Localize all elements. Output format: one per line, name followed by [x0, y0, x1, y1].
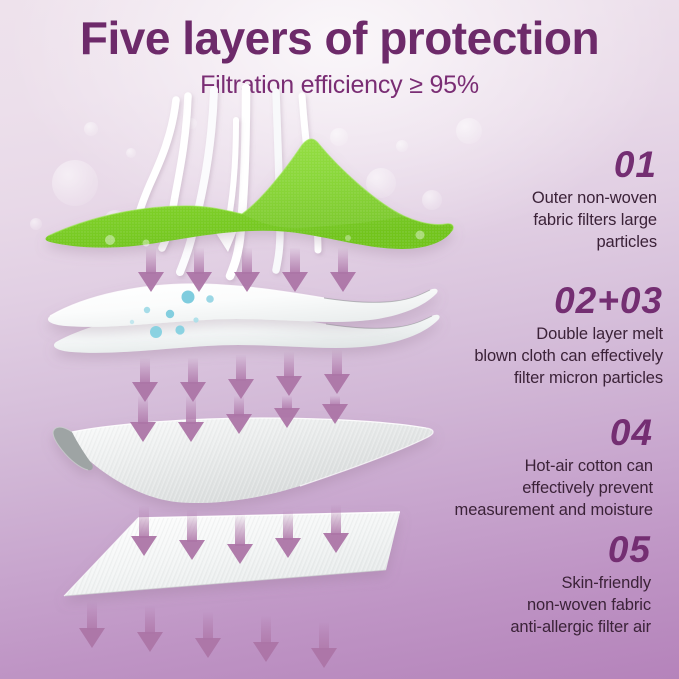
hot-air-cotton-layer	[53, 418, 433, 503]
cyan-particle-dot	[193, 317, 198, 322]
layer-desc-line: Double layer melt	[474, 324, 663, 346]
layer-desc-line: Hot-air cotton can	[455, 456, 653, 478]
skin-friendly-layer	[64, 512, 400, 596]
layer-info-02-03: 02+03 Double layer melt blown cloth can …	[474, 282, 663, 389]
layer-desc-line: anti-allergic filter air	[510, 617, 651, 639]
layer-description: Outer non-woven fabric filters large par…	[532, 188, 657, 253]
cyan-particle-dot	[130, 320, 134, 324]
outer-non-woven-layer	[46, 139, 454, 249]
cyan-particle-dot	[206, 295, 214, 303]
layer-desc-line: blown cloth can effectively	[474, 346, 663, 368]
cyan-particle-dot	[175, 325, 184, 334]
layer-desc-line: measurement and moisture	[455, 500, 653, 522]
cyan-particle-dot	[166, 310, 174, 318]
layer-desc-line: fabric filters large	[532, 210, 657, 232]
layer-description: Double layer melt blown cloth can effect…	[474, 324, 663, 389]
cyan-particle-dot	[150, 326, 162, 338]
layer-desc-line: Skin-friendly	[510, 573, 651, 595]
cyan-particle-dot	[144, 307, 150, 313]
layer-number: 01	[532, 146, 657, 183]
infographic-canvas: Five layers of protection Filtration eff…	[0, 0, 679, 679]
layer-info-04: 04 Hot-air cotton can effectively preven…	[455, 414, 653, 521]
layer-number: 02+03	[474, 282, 663, 319]
layer-desc-line: particles	[532, 232, 657, 254]
layer-desc-line: non-woven fabric	[510, 595, 651, 617]
layer-description: Hot-air cotton can effectively prevent m…	[455, 456, 653, 521]
layer-desc-line: effectively prevent	[455, 478, 653, 500]
layer-desc-line: Outer non-woven	[532, 188, 657, 210]
layer-info-01: 01 Outer non-woven fabric filters large …	[532, 146, 657, 253]
layer-number: 04	[455, 414, 653, 451]
layer-number: 05	[510, 531, 651, 568]
layer-desc-line: filter micron particles	[474, 368, 663, 390]
cyan-particle-dot	[182, 291, 195, 304]
layer-info-05: 05 Skin-friendly non-woven fabric anti-a…	[510, 531, 651, 638]
layer-description: Skin-friendly non-woven fabric anti-alle…	[510, 573, 651, 638]
